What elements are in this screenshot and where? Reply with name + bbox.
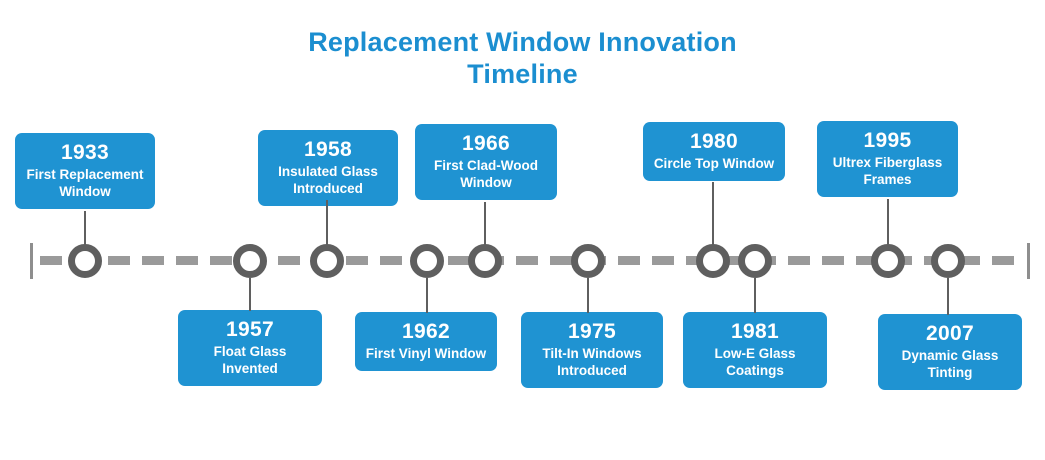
- timeline-card-year: 1958: [264, 137, 392, 163]
- timeline-card-year: 1933: [21, 140, 149, 166]
- timeline-card-1957[interactable]: 1957 Float Glass Invented: [178, 310, 322, 386]
- timeline-card-label: First Vinyl Window: [361, 345, 491, 362]
- title-line-1: Replacement Window Innovation: [308, 27, 737, 57]
- timeline-node-1962[interactable]: [410, 244, 444, 278]
- connector-1933: [84, 211, 86, 246]
- timeline-card-2007[interactable]: 2007 Dynamic Glass Tinting: [878, 314, 1022, 390]
- timeline-card-1958[interactable]: 1958 Insulated Glass Introduced: [258, 130, 398, 206]
- timeline-node-2007[interactable]: [931, 244, 965, 278]
- connector-1958: [326, 200, 328, 246]
- timeline-card-label: Tilt-In Windows Introduced: [527, 345, 657, 379]
- title-line-2: Timeline: [0, 58, 1045, 90]
- timeline-node-1981[interactable]: [738, 244, 772, 278]
- timeline-card-1962[interactable]: 1962 First Vinyl Window: [355, 312, 497, 371]
- timeline-card-label: Low-E Glass Coatings: [689, 345, 821, 379]
- timeline-infographic: Replacement Window Innovation Timeline 1…: [0, 0, 1045, 460]
- connector-1962: [426, 278, 428, 313]
- timeline-end-cap: [1027, 243, 1030, 279]
- timeline-card-year: 2007: [884, 321, 1016, 347]
- timeline-node-1957[interactable]: [233, 244, 267, 278]
- timeline-card-year: 1995: [823, 128, 952, 154]
- timeline-node-1980[interactable]: [696, 244, 730, 278]
- timeline-card-label: First Clad-Wood Window: [421, 157, 551, 191]
- timeline-card-year: 1981: [689, 319, 821, 345]
- timeline-card-label: Circle Top Window: [649, 155, 779, 172]
- timeline-start-cap: [30, 243, 33, 279]
- connector-1995: [887, 199, 889, 246]
- timeline-card-year: 1975: [527, 319, 657, 345]
- connector-2007: [947, 278, 949, 315]
- timeline-card-1933[interactable]: 1933 First Replacement Window: [15, 133, 155, 209]
- connector-1981: [754, 278, 756, 313]
- timeline-card-label: First Replacement Window: [21, 166, 149, 200]
- timeline-node-1995[interactable]: [871, 244, 905, 278]
- connector-1957: [249, 278, 251, 311]
- timeline-card-year: 1966: [421, 131, 551, 157]
- timeline-node-1958[interactable]: [310, 244, 344, 278]
- page-title: Replacement Window Innovation Timeline: [0, 26, 1045, 90]
- timeline-card-label: Float Glass Invented: [184, 343, 316, 377]
- timeline-card-1966[interactable]: 1966 First Clad-Wood Window: [415, 124, 557, 200]
- timeline-card-1981[interactable]: 1981 Low-E Glass Coatings: [683, 312, 827, 388]
- timeline-node-1966[interactable]: [468, 244, 502, 278]
- timeline-node-1933[interactable]: [68, 244, 102, 278]
- timeline-card-1980[interactable]: 1980 Circle Top Window: [643, 122, 785, 181]
- timeline-card-label: Dynamic Glass Tinting: [884, 347, 1016, 381]
- timeline-card-1995[interactable]: 1995 Ultrex Fiberglass Frames: [817, 121, 958, 197]
- timeline-card-label: Ultrex Fiberglass Frames: [823, 154, 952, 188]
- timeline-card-year: 1980: [649, 129, 779, 155]
- timeline-card-label: Insulated Glass Introduced: [264, 163, 392, 197]
- connector-1980: [712, 182, 714, 246]
- timeline-node-1975[interactable]: [571, 244, 605, 278]
- connector-1966: [484, 202, 486, 246]
- timeline-card-year: 1957: [184, 317, 316, 343]
- connector-1975: [587, 278, 589, 313]
- timeline-card-year: 1962: [361, 319, 491, 345]
- timeline-card-1975[interactable]: 1975 Tilt-In Windows Introduced: [521, 312, 663, 388]
